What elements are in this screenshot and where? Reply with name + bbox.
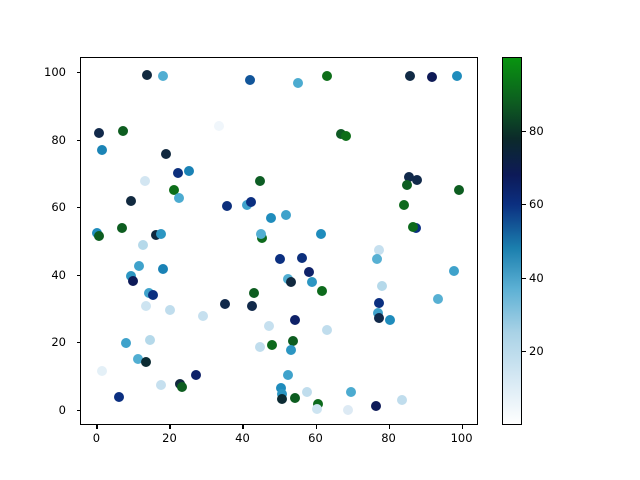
scatter-point (247, 301, 257, 311)
scatter-point (220, 299, 230, 309)
scatter-point (173, 168, 183, 178)
x-tick-mark (316, 425, 317, 429)
scatter-point (174, 193, 184, 203)
scatter-point (275, 254, 285, 264)
scatter-point (158, 71, 168, 81)
scatter-point (245, 75, 255, 85)
scatter-point (286, 277, 296, 287)
x-tick-label: 80 (381, 431, 396, 445)
scatter-point (118, 126, 128, 136)
scatter-point (256, 229, 266, 239)
scatter-point (114, 392, 124, 402)
scatter-point (264, 321, 274, 331)
scatter-point (449, 266, 459, 276)
scatter-point (452, 71, 462, 81)
y-tick-mark (77, 207, 81, 208)
scatter-point (156, 380, 166, 390)
scatter-point (249, 288, 259, 298)
scatter-point (322, 71, 332, 81)
scatter-point (134, 261, 144, 271)
colorbar-tick-label: 60 (529, 197, 544, 211)
scatter-point (267, 340, 277, 350)
y-tick-label: 40 (51, 268, 66, 282)
colorbar-tick-label: 80 (529, 124, 544, 138)
scatter-points-layer (81, 58, 477, 424)
scatter-point (316, 229, 326, 239)
scatter-point (372, 254, 382, 264)
y-tick-mark (77, 410, 81, 411)
scatter-point (277, 394, 287, 404)
scatter-point (140, 176, 150, 186)
scatter-point (161, 149, 171, 159)
x-tick-mark (462, 425, 463, 429)
scatter-point (408, 222, 418, 232)
scatter-point (117, 223, 127, 233)
x-tick-label: 40 (235, 431, 250, 445)
scatter-point (397, 395, 407, 405)
scatter-point (427, 72, 437, 82)
scatter-point (433, 294, 443, 304)
colorbar-tick-label: 20 (529, 344, 544, 358)
scatter-point (297, 253, 307, 263)
x-tick-label: 60 (308, 431, 323, 445)
colorbar-tick-mark (522, 351, 526, 352)
y-tick-mark (77, 72, 81, 73)
colorbar-gradient (503, 58, 521, 424)
scatter-point (97, 366, 107, 376)
scatter-point (128, 276, 138, 286)
scatter-point (312, 404, 322, 414)
scatter-point (454, 185, 464, 195)
scatter-point (177, 382, 187, 392)
x-tick-mark (96, 425, 97, 429)
matplotlib-figure: 020406080100 020406080100 20406080 (0, 0, 640, 480)
scatter-point (307, 277, 317, 287)
scatter-point (141, 357, 151, 367)
x-tick-mark (169, 425, 170, 429)
x-tick-label: 0 (93, 431, 100, 445)
scatter-point (94, 231, 104, 241)
colorbar-tick-mark (522, 278, 526, 279)
scatter-point (214, 121, 224, 131)
scatter-point (145, 335, 155, 345)
colorbar-tick-mark (522, 204, 526, 205)
scatter-point (341, 131, 351, 141)
y-tick-label: 100 (44, 65, 66, 79)
scatter-point (142, 70, 152, 80)
scatter-point (293, 78, 303, 88)
scatter-point (343, 405, 353, 415)
scatter-point (283, 370, 293, 380)
y-tick-mark (77, 140, 81, 141)
x-tick-label: 100 (451, 431, 473, 445)
y-tick-label: 20 (51, 335, 66, 349)
scatter-point (281, 210, 291, 220)
y-tick-label: 80 (51, 133, 66, 147)
scatter-point (198, 311, 208, 321)
scatter-point (255, 342, 265, 352)
scatter-point (191, 370, 201, 380)
scatter-point (148, 290, 158, 300)
scatter-point (302, 387, 312, 397)
scatter-point (222, 201, 232, 211)
scatter-point (158, 264, 168, 274)
scatter-point (290, 393, 300, 403)
scatter-point (371, 401, 381, 411)
scatter-point (399, 200, 409, 210)
scatter-point (97, 145, 107, 155)
x-tick-mark (389, 425, 390, 429)
scatter-point (290, 315, 300, 325)
scatter-point (126, 196, 136, 206)
y-tick-mark (77, 342, 81, 343)
scatter-point (322, 325, 332, 335)
scatter-point (121, 338, 131, 348)
scatter-point (377, 281, 387, 291)
scatter-point (184, 166, 194, 176)
y-tick-mark (77, 275, 81, 276)
scatter-plot-axes (80, 57, 478, 425)
scatter-point (317, 286, 327, 296)
scatter-point (402, 180, 412, 190)
scatter-point (141, 301, 151, 311)
y-tick-label: 0 (59, 403, 66, 417)
x-tick-mark (242, 425, 243, 429)
y-tick-label: 60 (51, 200, 66, 214)
scatter-point (246, 197, 256, 207)
scatter-point (286, 345, 296, 355)
colorbar (502, 57, 522, 425)
scatter-point (374, 298, 384, 308)
scatter-point (255, 176, 265, 186)
scatter-point (138, 240, 148, 250)
colorbar-tick-mark (522, 131, 526, 132)
scatter-point (405, 71, 415, 81)
scatter-point (156, 229, 166, 239)
scatter-point (385, 315, 395, 325)
scatter-point (346, 387, 356, 397)
scatter-point (94, 128, 104, 138)
scatter-point (412, 175, 422, 185)
x-tick-label: 20 (162, 431, 177, 445)
scatter-point (165, 305, 175, 315)
scatter-point (374, 313, 384, 323)
colorbar-tick-label: 40 (529, 271, 544, 285)
scatter-point (266, 213, 276, 223)
